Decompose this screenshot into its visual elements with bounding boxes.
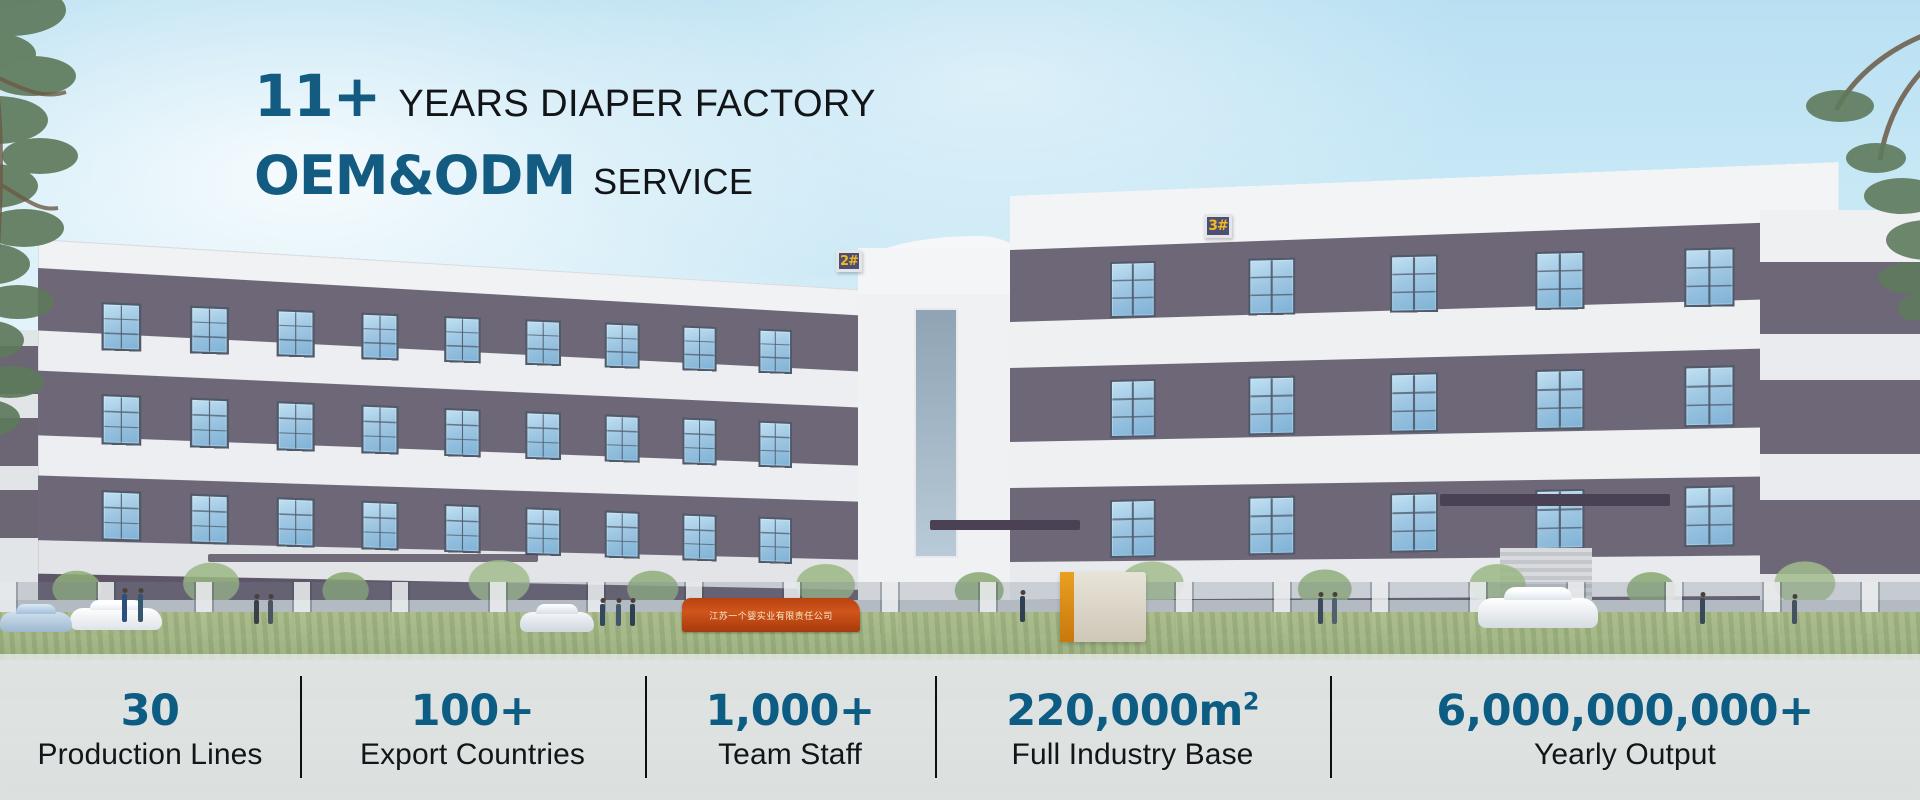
stat-value-superscript: 2 bbox=[1243, 687, 1259, 715]
stat-label: Production Lines bbox=[37, 738, 262, 772]
person-6 bbox=[616, 604, 621, 626]
person-2 bbox=[138, 594, 143, 622]
stat-label: Export Countries bbox=[360, 738, 585, 772]
car-white-right bbox=[1478, 598, 1598, 628]
stat-label: Team Staff bbox=[718, 738, 862, 772]
person-3 bbox=[254, 600, 259, 624]
stat-value: 6,000,000,000+ bbox=[1436, 688, 1813, 734]
stat-team-staff: 1,000+ Team Staff bbox=[645, 654, 935, 800]
stat-value: 1,000+ bbox=[705, 688, 874, 734]
person-7 bbox=[630, 604, 635, 626]
car-white-left bbox=[70, 608, 162, 630]
stat-value: 220,000m2 bbox=[1006, 688, 1259, 734]
headline-line-1: 11+ YEARS DIAPER FACTORY bbox=[254, 62, 876, 130]
headline-block: 11+ YEARS DIAPER FACTORY OEM&ODM SERVICE bbox=[254, 62, 876, 207]
stat-full-industry-base: 220,000m2 Full Industry Base bbox=[935, 654, 1330, 800]
person-1 bbox=[122, 594, 127, 622]
stat-yearly-output: 6,000,000,000+ Yearly Output bbox=[1330, 654, 1920, 800]
person-4 bbox=[268, 600, 273, 624]
stat-label: Yearly Output bbox=[1534, 738, 1716, 772]
car-white-mid bbox=[520, 612, 594, 632]
person-10 bbox=[1332, 598, 1337, 624]
stats-bar: 30 Production Lines 100+ Export Countrie… bbox=[0, 654, 1920, 800]
gate-sign-text: 江苏一个婴实业有限责任公司 bbox=[682, 598, 860, 632]
person-11 bbox=[1700, 598, 1705, 624]
stat-value: 100+ bbox=[411, 688, 535, 734]
person-5 bbox=[600, 604, 605, 626]
gate-signboard: 江苏一个婴实业有限责任公司 bbox=[682, 598, 860, 632]
headline-oem-accent: OEM&ODM bbox=[254, 144, 575, 207]
person-12 bbox=[1792, 600, 1797, 624]
entrance-canopy-centre bbox=[930, 520, 1080, 530]
car-blue-far-left bbox=[0, 612, 72, 632]
entrance-canopy-right bbox=[1440, 494, 1670, 506]
stat-value-main: 220,000m bbox=[1006, 686, 1243, 736]
headline-years-text: YEARS DIAPER FACTORY bbox=[398, 83, 876, 126]
person-8 bbox=[1020, 596, 1025, 622]
foreground-hedge bbox=[0, 612, 1920, 660]
headline-years-accent: 11+ bbox=[254, 62, 380, 130]
guard-house-stripe bbox=[1060, 572, 1074, 642]
stat-value: 30 bbox=[121, 688, 180, 734]
headline-service-text: SERVICE bbox=[593, 161, 753, 203]
headline-line-2: OEM&ODM SERVICE bbox=[254, 144, 876, 207]
building-plaque-3: 3# bbox=[1204, 214, 1232, 238]
stat-production-lines: 30 Production Lines bbox=[0, 654, 300, 800]
stat-export-countries: 100+ Export Countries bbox=[300, 654, 645, 800]
building-plaque-2: 2# bbox=[836, 250, 862, 272]
factory-hero-banner: 2# 3# 江苏一个婴实业有限责任公司 bbox=[0, 0, 1920, 800]
stat-label: Full Industry Base bbox=[1012, 738, 1254, 772]
person-9 bbox=[1318, 598, 1323, 624]
